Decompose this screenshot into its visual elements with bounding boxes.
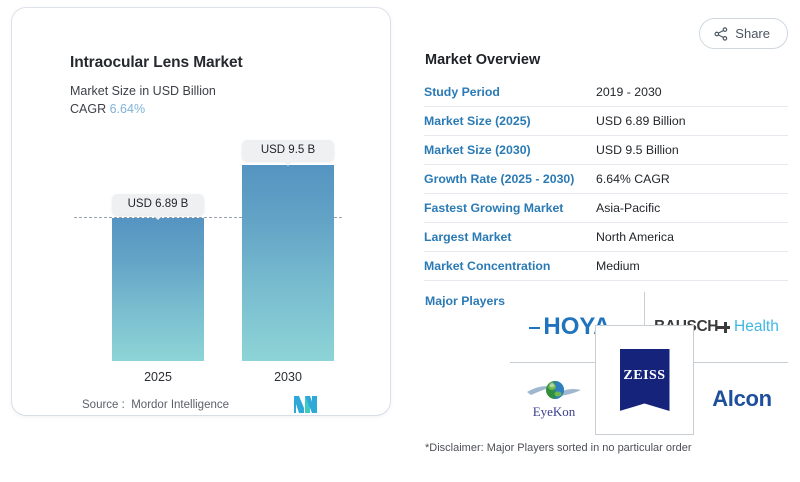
- row-key: Largest Market: [424, 230, 596, 244]
- eyekon-wordmark: EyeKon: [533, 404, 576, 420]
- major-players-disclaimer: *Disclaimer: Major Players sorted in no …: [425, 442, 692, 454]
- table-row: Fastest Growing Market Asia-Pacific: [424, 194, 788, 223]
- table-row: Market Concentration Medium: [424, 252, 788, 281]
- row-value: USD 9.5 Billion: [596, 143, 679, 157]
- source-label: Source :: [82, 399, 125, 411]
- share-button-label: Share: [735, 26, 770, 41]
- row-value: 2019 - 2030: [596, 85, 662, 99]
- mordor-intelligence-logo-icon: [294, 396, 320, 413]
- source-name: Mordor Intelligence: [131, 399, 229, 411]
- major-players-logo-grid: HOYA BAUSCH Health EyeKon: [510, 292, 788, 435]
- market-overview-table: Study Period 2019 - 2030 Market Size (20…: [424, 78, 788, 281]
- alcon-logo: Alcon: [712, 386, 772, 412]
- bar-label-2025: USD 6.89 B: [112, 194, 204, 215]
- row-key: Market Size (2025): [424, 114, 596, 128]
- bar-chart-plot: USD 6.89 B USD 9.5 B 2025 2030: [12, 8, 390, 415]
- row-value: North America: [596, 230, 674, 244]
- bausch-cross-icon: [717, 321, 730, 334]
- zeiss-wordmark: ZEISS: [623, 368, 665, 384]
- eyekon-logo: EyeKon: [525, 379, 583, 420]
- share-nodes-icon: [714, 27, 728, 41]
- health-wordmark: Health: [734, 318, 779, 336]
- logo-cell-zeiss: ZEISS: [595, 325, 694, 435]
- eyekon-globe-icon: [525, 379, 583, 403]
- report-snapshot: Intraocular Lens Market Market Size in U…: [0, 0, 800, 482]
- x-axis-tick-2025: 2025: [112, 370, 204, 384]
- bar-label-2030: USD 9.5 B: [242, 140, 334, 161]
- chart-card: Intraocular Lens Market Market Size in U…: [12, 8, 390, 415]
- row-value: Medium: [596, 259, 640, 273]
- table-row: Largest Market North America: [424, 223, 788, 252]
- x-axis-tick-2030: 2030: [242, 370, 334, 384]
- row-key: Growth Rate (2025 - 2030): [424, 172, 596, 186]
- row-value: USD 6.89 Billion: [596, 114, 686, 128]
- row-key: Market Size (2030): [424, 143, 596, 157]
- logo-cell-alcon: Alcon: [696, 363, 788, 435]
- chart-source: Source : Mordor Intelligence: [82, 399, 229, 411]
- row-value: Asia-Pacific: [596, 201, 660, 215]
- table-row: Market Size (2025) USD 6.89 Billion: [424, 107, 788, 136]
- market-overview-title: Market Overview: [425, 52, 540, 68]
- zeiss-logo: ZEISS: [620, 349, 670, 411]
- bar-2025[interactable]: [112, 218, 204, 361]
- bar-2030[interactable]: [242, 165, 334, 361]
- major-players-label: Major Players: [425, 294, 505, 308]
- row-key: Market Concentration: [424, 259, 596, 273]
- share-button[interactable]: Share: [699, 18, 788, 49]
- row-value: 6.64% CAGR: [596, 172, 670, 186]
- table-row: Growth Rate (2025 - 2030) 6.64% CAGR: [424, 165, 788, 194]
- row-key: Fastest Growing Market: [424, 201, 596, 215]
- logo-cell-eyekon: EyeKon: [510, 363, 598, 435]
- table-row: Study Period 2019 - 2030: [424, 78, 788, 107]
- row-key: Study Period: [424, 85, 596, 99]
- table-row: Market Size (2030) USD 9.5 Billion: [424, 136, 788, 165]
